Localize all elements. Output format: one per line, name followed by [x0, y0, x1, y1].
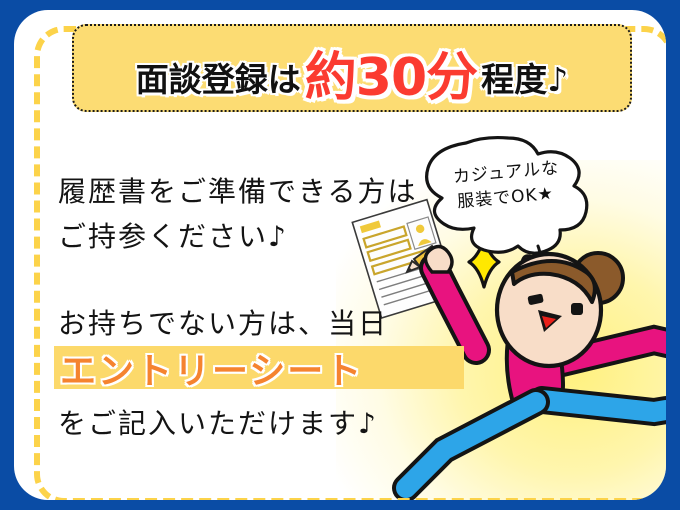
body-line-3: お持ちでない方は、当日	[58, 302, 388, 342]
banner-text-after: 程度♪	[481, 53, 568, 101]
banner-accent-duration: 約30分	[305, 35, 477, 110]
white-card: 面談登録は 約30分 程度♪ 履歴書をご準備できる方は ご持参ください♪ お持ち…	[14, 10, 666, 500]
title-banner: 面談登録は 約30分 程度♪	[72, 24, 632, 112]
speech-bubble-container: カジュアルな 服装でOK★	[432, 138, 647, 263]
speech-bubble-text: カジュアルな 服装でOK★	[452, 151, 626, 216]
body-line-2: ご持参ください♪	[58, 215, 288, 255]
poster-canvas: 面談登録は 約30分 程度♪ 履歴書をご準備できる方は ご持参ください♪ お持ち…	[0, 0, 680, 510]
banner-text-line: 面談登録は 約30分 程度♪	[136, 31, 568, 106]
entry-sheet-highlight-text: エントリーシート	[60, 346, 470, 389]
banner-text-before: 面談登録は	[136, 53, 301, 101]
body-line-1: 履歴書をご準備できる方は	[58, 170, 417, 210]
body-line-5: をご記入いただけます♪	[58, 402, 378, 442]
